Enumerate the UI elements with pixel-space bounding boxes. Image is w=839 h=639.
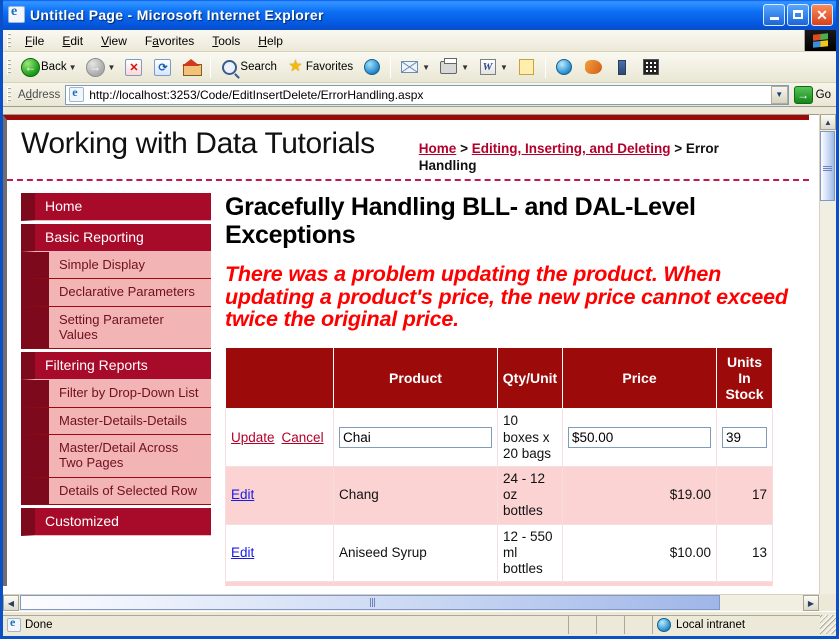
refresh-icon: ⟳ [152, 57, 173, 78]
address-bar: Address ▼ → Go [3, 83, 836, 107]
product-name-cell: Chang [334, 466, 498, 524]
toolbar-drag-handle[interactable] [7, 59, 11, 75]
sidebar-item-setting-parameter-values[interactable]: Setting Parameter Values [21, 307, 211, 350]
column-header-product: Product [334, 348, 498, 409]
edit-dropdown-icon[interactable]: ▼ [500, 63, 508, 72]
close-icon: ✕ [816, 9, 828, 21]
address-dropdown-icon[interactable]: ▼ [771, 86, 788, 104]
price-cell: $19.00 [563, 466, 717, 524]
units-in-stock-cell: 17 [717, 466, 773, 524]
star-icon: ★ [285, 57, 306, 78]
title-bar: Untitled Page - Microsoft Internet Explo… [3, 0, 836, 30]
minimize-button[interactable] [763, 4, 785, 26]
menu-item-view[interactable]: View [92, 32, 136, 50]
sidebar-item-simple-display[interactable]: Simple Display [21, 252, 211, 279]
developer-button[interactable] [637, 55, 666, 80]
price-cell [563, 582, 717, 586]
edit-with-word-button[interactable]: W ▼ [473, 55, 512, 80]
print-dropdown-icon[interactable]: ▼ [461, 63, 469, 72]
address-input-wrapper[interactable]: ▼ [65, 85, 788, 105]
units-in-stock-cell [717, 582, 773, 586]
scroll-left-button[interactable]: ◀ [3, 595, 19, 611]
resize-grip[interactable] [820, 615, 836, 634]
product-name-cell [334, 409, 498, 467]
sidebar-item-filtering-reports[interactable]: Filtering Reports [21, 352, 211, 380]
edit-link[interactable]: Edit [231, 545, 254, 560]
status-pane-3 [624, 615, 652, 634]
go-button-label: Go [816, 89, 831, 101]
grid-body: Update Cancel 10 boxes x 20 bags [226, 409, 773, 586]
qty-unit-cell: 24 - 12 oz bottles [498, 466, 563, 524]
page-title: Working with Data Tutorials [21, 128, 375, 160]
menu-drag-handle[interactable] [7, 33, 11, 49]
sidebar-item-filter-by-dropdown-list[interactable]: Filter by Drop-Down List [21, 380, 211, 407]
back-arrow-icon: ← [20, 57, 41, 78]
sidebar-item-details-of-selected-row[interactable]: Details of Selected Row [21, 478, 211, 505]
cancel-link[interactable]: Cancel [282, 430, 324, 446]
status-bar: Done Local intranet [3, 611, 836, 636]
update-link[interactable]: Update [231, 430, 275, 446]
stop-button[interactable]: ✕ [119, 55, 148, 80]
menu-favorites-rest: vorites [159, 34, 194, 48]
breadcrumb-link-home[interactable]: Home [419, 141, 457, 156]
window-title: Untitled Page - Microsoft Internet Explo… [30, 7, 324, 23]
row-commands-cell: Update Cancel [226, 409, 334, 467]
search-button[interactable]: Search [215, 55, 280, 80]
price-cell: $10.00 [563, 524, 717, 582]
close-button[interactable]: ✕ [811, 4, 833, 26]
window-controls: ✕ [763, 4, 836, 26]
toolbar-separator-3 [545, 57, 546, 78]
menu-help-rest: elp [267, 34, 283, 48]
status-ie-icon [7, 618, 21, 632]
breadcrumb-separator-2: > [674, 141, 682, 156]
intranet-globe-icon [657, 618, 671, 632]
page-viewport: Working with Data Tutorials Home > Editi… [3, 114, 836, 611]
mail-dropdown-icon[interactable]: ▼ [422, 63, 430, 72]
table-row-edit-mode: Update Cancel 10 boxes x 20 bags [226, 409, 773, 467]
menu-bar: File Edit View Favorites Tools Help [3, 30, 836, 52]
toolbar-separator-1 [210, 57, 211, 78]
windows-flag-logo-icon [804, 30, 836, 51]
sidebar-item-customized[interactable]: Customized [21, 508, 211, 536]
refresh-button[interactable]: ⟳ [148, 55, 177, 80]
vertical-scroll-thumb[interactable] [820, 131, 835, 201]
menu-view-rest: iew [109, 34, 127, 48]
breadcrumb-link-section[interactable]: Editing, Inserting, and Deleting [472, 141, 671, 156]
status-pane-2 [596, 615, 624, 634]
horizontal-scrollbar[interactable]: ◀ ▶ [3, 594, 819, 611]
fox-icon [583, 57, 604, 78]
maximize-button[interactable] [787, 4, 809, 26]
web-page: Working with Data Tutorials Home > Editi… [3, 115, 809, 586]
sidebar-item-basic-reporting[interactable]: Basic Reporting [21, 224, 211, 252]
note-icon [516, 57, 537, 78]
menu-edit-rest: dit [70, 34, 83, 48]
status-text-pane: Done [3, 615, 568, 634]
printer-icon [438, 57, 459, 78]
breadcrumb: Home > Editing, Inserting, and Deleting … [419, 141, 759, 175]
sidebar-item-declarative-parameters[interactable]: Declarative Parameters [21, 279, 211, 306]
history-button[interactable] [357, 55, 386, 80]
firefox-button[interactable] [579, 55, 608, 80]
scroll-right-button[interactable]: ▶ [803, 595, 819, 611]
row-commands-cell: Edit [226, 524, 334, 582]
row-commands-cell [226, 582, 334, 586]
research-button[interactable] [608, 55, 637, 80]
search-button-label: Search [240, 61, 276, 73]
menu-tools-rest: ools [218, 34, 240, 48]
menu-item-tools[interactable]: Tools [203, 32, 249, 50]
mail-button[interactable]: ▼ [395, 55, 434, 80]
units-in-stock-input[interactable] [722, 427, 767, 448]
back-dropdown-icon[interactable]: ▼ [69, 63, 77, 72]
messenger-globe-icon [554, 57, 575, 78]
main-content: Gracefully Handling BLL- and DAL-Level E… [211, 181, 809, 586]
units-in-stock-cell: 13 [717, 524, 773, 582]
menu-item-file[interactable]: File [16, 32, 53, 50]
qr-grid-icon [641, 57, 662, 78]
product-name-cell: Aniseed Syrup [334, 524, 498, 582]
edit-link[interactable]: Edit [231, 487, 254, 502]
maximize-icon [793, 10, 803, 19]
horizontal-scroll-thumb[interactable] [20, 595, 720, 610]
ie-logo-icon [8, 6, 25, 23]
favorites-button[interactable]: ★ Favorites [281, 55, 357, 80]
notes-button[interactable] [512, 55, 541, 80]
search-icon [219, 57, 240, 78]
status-pane-1 [568, 615, 596, 634]
content-heading: Gracefully Handling BLL- and DAL-Level E… [225, 193, 799, 249]
qty-unit-cell: 48 - 6 oz [498, 582, 563, 586]
menu-item-edit[interactable]: Edit [53, 32, 92, 50]
toolbar-separator-2 [390, 57, 391, 78]
vertical-scrollbar[interactable]: ▲ ▼ [819, 114, 836, 611]
row-commands-cell: Edit [226, 466, 334, 524]
scrollbar-corner [819, 594, 836, 611]
security-zone-text: Local intranet [676, 619, 745, 631]
qty-unit-cell: 12 - 550 ml bottles [498, 524, 563, 582]
history-globe-icon [361, 57, 382, 78]
page-favicon-icon [69, 87, 84, 102]
grid-header: Product Qty/Unit Price Units In Stock [226, 348, 773, 409]
print-button[interactable]: ▼ [434, 55, 473, 80]
minimize-icon [770, 17, 779, 20]
favorites-button-label: Favorites [306, 61, 353, 73]
stop-icon: ✕ [123, 57, 144, 78]
status-text: Done [25, 619, 53, 631]
table-row: Edit Aniseed Syrup 12 - 550 ml bottles $… [226, 524, 773, 582]
product-name-cell: Chef Anton's Cajun [334, 582, 498, 586]
navigation-toolbar: ← Back ▼ → ▼ ✕ ⟳ Search ★ Favorites [3, 52, 836, 83]
home-icon [181, 57, 202, 78]
address-input[interactable] [87, 87, 770, 103]
go-button[interactable]: → Go [791, 86, 834, 104]
column-header-commands [226, 348, 334, 409]
product-name-input[interactable] [339, 427, 492, 448]
price-input[interactable] [568, 427, 711, 448]
security-zone-pane: Local intranet [652, 615, 820, 634]
sidebar-item-master-details-details[interactable]: Master-Details-Details [21, 408, 211, 435]
page-body: Home Basic Reporting Simple Display Decl… [7, 181, 809, 586]
forward-dropdown-icon[interactable]: ▼ [108, 63, 116, 72]
back-button[interactable]: ← Back ▼ [16, 55, 81, 80]
spray-can-icon [612, 57, 633, 78]
table-row: Edit Chang 24 - 12 oz bottles $19.00 17 [226, 466, 773, 524]
grid-header-row: Product Qty/Unit Price Units In Stock [226, 348, 773, 409]
sidebar-item-home[interactable]: Home [21, 193, 211, 221]
sidebar-item-master-detail-across-two-pages[interactable]: Master/Detail Across Two Pages [21, 435, 211, 478]
word-icon: W [477, 57, 498, 78]
back-button-label: Back [41, 61, 67, 73]
breadcrumb-separator-1: > [460, 141, 468, 156]
units-in-stock-cell [717, 409, 773, 467]
menu-item-help[interactable]: Help [249, 32, 292, 50]
forward-arrow-icon: → [85, 57, 106, 78]
price-cell [563, 409, 717, 467]
column-header-qty-unit: Qty/Unit [498, 348, 563, 409]
scroll-up-button[interactable]: ▲ [820, 114, 836, 130]
address-label: Address [16, 89, 65, 101]
forward-button[interactable]: → ▼ [81, 55, 120, 80]
error-message: There was a problem updating the product… [225, 263, 799, 331]
home-button[interactable] [177, 55, 206, 80]
address-drag-handle[interactable] [7, 87, 11, 103]
sidebar-navigation: Home Basic Reporting Simple Display Decl… [7, 181, 211, 536]
column-header-units-in-stock: Units In Stock [717, 348, 773, 409]
column-header-price: Price [563, 348, 717, 409]
browser-window: Untitled Page - Microsoft Internet Explo… [0, 0, 839, 639]
messenger-button[interactable] [550, 55, 579, 80]
page-header: Working with Data Tutorials Home > Editi… [7, 120, 809, 181]
envelope-icon [399, 57, 420, 78]
menu-item-favorites[interactable]: Favorites [136, 32, 203, 50]
products-grid: Product Qty/Unit Price Units In Stock U [225, 347, 773, 586]
go-arrow-icon: → [794, 86, 813, 104]
qty-unit-cell: 10 boxes x 20 bags [498, 409, 563, 467]
table-row: Chef Anton's Cajun 48 - 6 oz [226, 582, 773, 586]
menu-file-rest: ile [32, 34, 44, 48]
